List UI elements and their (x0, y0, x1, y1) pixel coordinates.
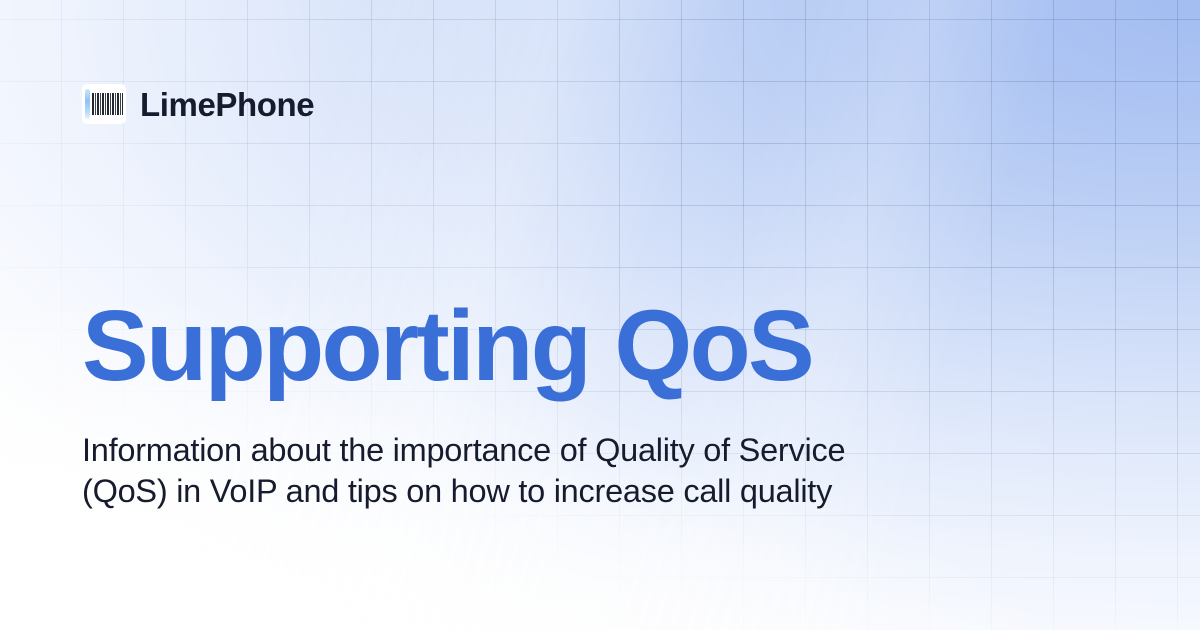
page-title: Supporting QoS (82, 296, 812, 396)
brand-name: LimePhone (140, 88, 314, 121)
brand-lockup: LimePhone (82, 84, 314, 124)
logo-bar-shape (85, 89, 90, 119)
limephone-logo-icon (82, 84, 126, 124)
og-card: LimePhone Supporting QoS Information abo… (0, 0, 1200, 630)
page-subtitle: Information about the importance of Qual… (82, 430, 852, 512)
logo-wordmark-glyphs (92, 93, 123, 115)
card-content: LimePhone Supporting QoS Information abo… (0, 0, 1200, 630)
